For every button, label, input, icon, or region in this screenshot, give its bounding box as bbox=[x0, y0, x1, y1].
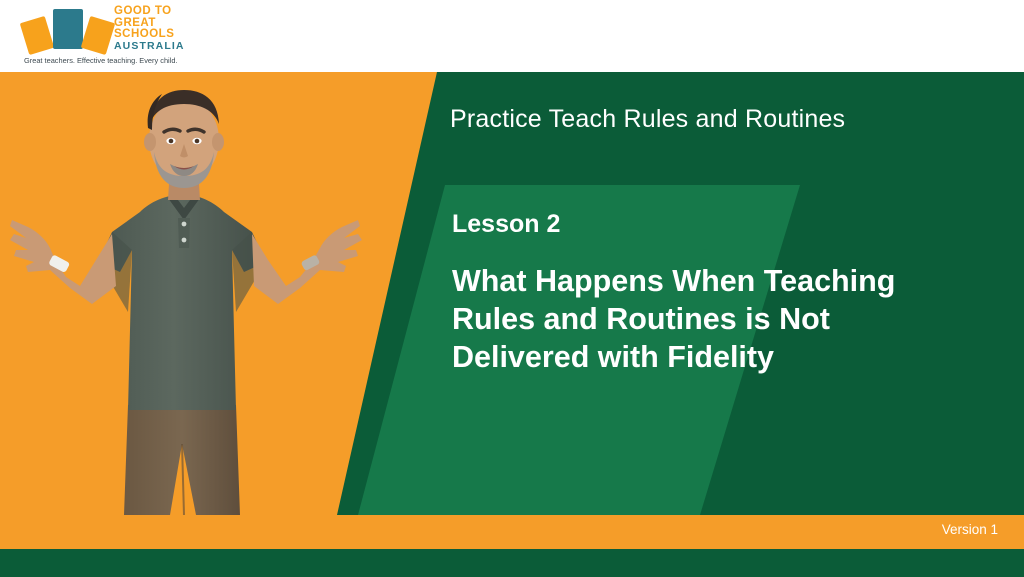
brand-logo: GOOD TO GREAT SCHOOLS AUSTRALIA Great te… bbox=[22, 4, 202, 70]
logo-wordmark: GOOD TO GREAT SCHOOLS AUSTRALIA bbox=[114, 6, 206, 52]
slide-title: What Happens When Teaching Rules and Rou… bbox=[452, 262, 962, 376]
logo-line-4: AUSTRALIA bbox=[114, 41, 206, 53]
presentation-slide: Practice Teach Rules and Routines Lesson… bbox=[0, 0, 1024, 577]
lesson-label: Lesson 2 bbox=[452, 210, 560, 239]
logo-line-1: GOOD TO bbox=[114, 6, 206, 18]
logo-card-right-icon bbox=[81, 16, 116, 55]
presenter-image bbox=[0, 72, 440, 515]
logo-tagline: Great teachers. Effective teaching. Ever… bbox=[24, 56, 202, 65]
logo-line-3: SCHOOLS bbox=[114, 29, 206, 41]
course-title: Practice Teach Rules and Routines bbox=[450, 105, 845, 134]
logo-card-middle-icon bbox=[53, 9, 83, 49]
green-footer-bar bbox=[0, 549, 1024, 577]
logo-card-left-icon bbox=[20, 16, 55, 55]
logo-cards-icon bbox=[22, 6, 114, 52]
logo-bar: GOOD TO GREAT SCHOOLS AUSTRALIA Great te… bbox=[0, 0, 1024, 72]
version-label: Version 1 bbox=[942, 522, 998, 537]
orange-footer-strip bbox=[0, 515, 1024, 549]
